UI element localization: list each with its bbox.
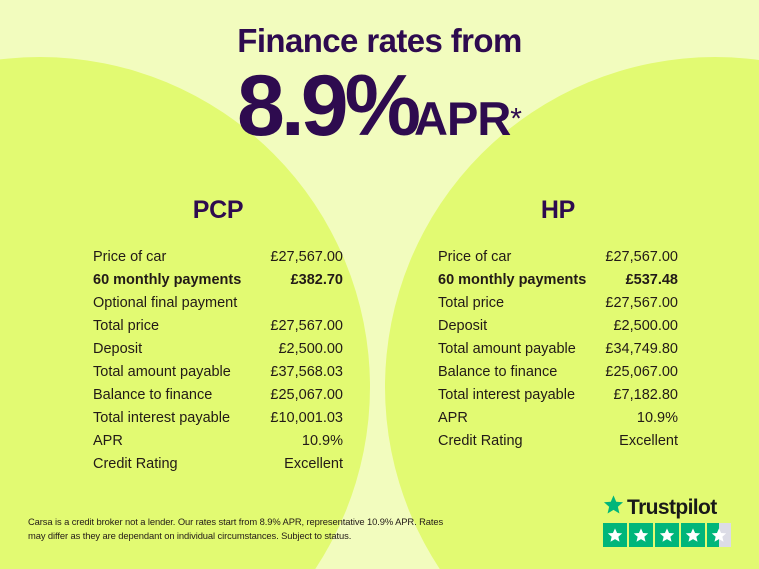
trustpilot-star-icon [629,523,653,547]
row-value: £10,001.03 [270,407,343,430]
row-label: Credit Rating [438,430,523,453]
table-title-pcp: PCP [93,196,343,225]
table-row: Total price£27,567.00 [438,292,678,315]
row-label: Total price [438,292,504,315]
row-value: Excellent [284,453,343,476]
table-row: APR10.9% [438,407,678,430]
row-label: Balance to finance [93,384,212,407]
row-label: 60 monthly payments [93,269,241,292]
trustpilot-star-icon [603,523,627,547]
table-row: Total interest payable£7,182.80 [438,384,678,407]
row-value: £27,567.00 [270,315,343,338]
row-value: £2,500.00 [613,315,678,338]
table-row: Credit RatingExcellent [93,453,343,476]
table-row: Deposit£2,500.00 [93,338,343,361]
page-title: Finance rates from [0,22,759,60]
row-label: Total amount payable [438,338,576,361]
table-row: 60 monthly payments£537.48 [438,269,678,292]
table-row: Balance to finance£25,067.00 [93,384,343,407]
row-label: Credit Rating [93,453,178,476]
row-label: Balance to finance [438,361,557,384]
rate-asterisk: * [510,103,522,136]
row-label: 60 monthly payments [438,269,586,292]
rate-value: 8.9% [237,58,417,154]
row-label: Price of car [93,246,166,269]
table-row: Price of car£27,567.00 [93,246,343,269]
trustpilot-star-icon [655,523,679,547]
row-value: £2,500.00 [278,338,343,361]
table-row: APR10.9% [93,430,343,453]
finance-table-hp: HP Price of car£27,567.0060 monthly paym… [438,196,678,453]
row-value: £34,749.80 [605,338,678,361]
trustpilot-star-icon [681,523,705,547]
table-row: Total price£27,567.00 [93,315,343,338]
promo-content: Finance rates from 8.9%APR* PCP Price of… [0,0,759,569]
table-title-hp: HP [438,196,678,225]
row-label: APR [93,430,123,453]
trustpilot-logo: Trustpilot [603,494,735,520]
row-label: APR [438,407,468,430]
trustpilot-wordmark-text: Trustpilot [627,497,717,518]
headline-rate: 8.9%APR* [0,63,759,149]
trustpilot-star-icon [707,523,731,547]
row-label: Optional final payment [93,292,237,315]
row-label: Deposit [93,338,142,361]
rate-unit: APR [414,92,510,145]
row-value: £27,567.00 [605,246,678,269]
table-row: 60 monthly payments£382.70 [93,269,343,292]
row-label: Total amount payable [93,361,231,384]
finance-table-pcp: PCP Price of car£27,567.0060 monthly pay… [93,196,343,476]
row-value: £7,182.80 [613,384,678,407]
table-row: Total interest payable£10,001.03 [93,407,343,430]
table-row: Total amount payable£37,568.03 [93,361,343,384]
row-value: £27,567.00 [270,246,343,269]
row-label: Total price [93,315,159,338]
row-label: Deposit [438,315,487,338]
row-value: £25,067.00 [605,361,678,384]
table-row: Total amount payable£34,749.80 [438,338,678,361]
trustpilot-widget[interactable]: Trustpilot [603,494,735,547]
row-value: 10.9% [637,407,678,430]
row-value: £27,567.00 [605,292,678,315]
disclaimer-text: Carsa is a credit broker not a lender. O… [28,515,458,543]
row-value: 10.9% [302,430,343,453]
table-row: Deposit£2,500.00 [438,315,678,338]
table-row: Credit RatingExcellent [438,430,678,453]
row-value: £25,067.00 [270,384,343,407]
trustpilot-star-rating [603,523,735,547]
table-row: Optional final payment [93,292,343,315]
row-value: £37,568.03 [270,361,343,384]
row-label: Total interest payable [93,407,230,430]
row-label: Total interest payable [438,384,575,407]
table-rows-pcp: Price of car£27,567.0060 monthly payment… [93,246,343,476]
table-row: Price of car£27,567.00 [438,246,678,269]
table-rows-hp: Price of car£27,567.0060 monthly payment… [438,246,678,453]
row-value: £537.48 [626,269,678,292]
table-row: Balance to finance£25,067.00 [438,361,678,384]
trustpilot-star-icon [603,494,624,520]
row-value: Excellent [619,430,678,453]
row-value: £382.70 [291,269,343,292]
row-label: Price of car [438,246,511,269]
